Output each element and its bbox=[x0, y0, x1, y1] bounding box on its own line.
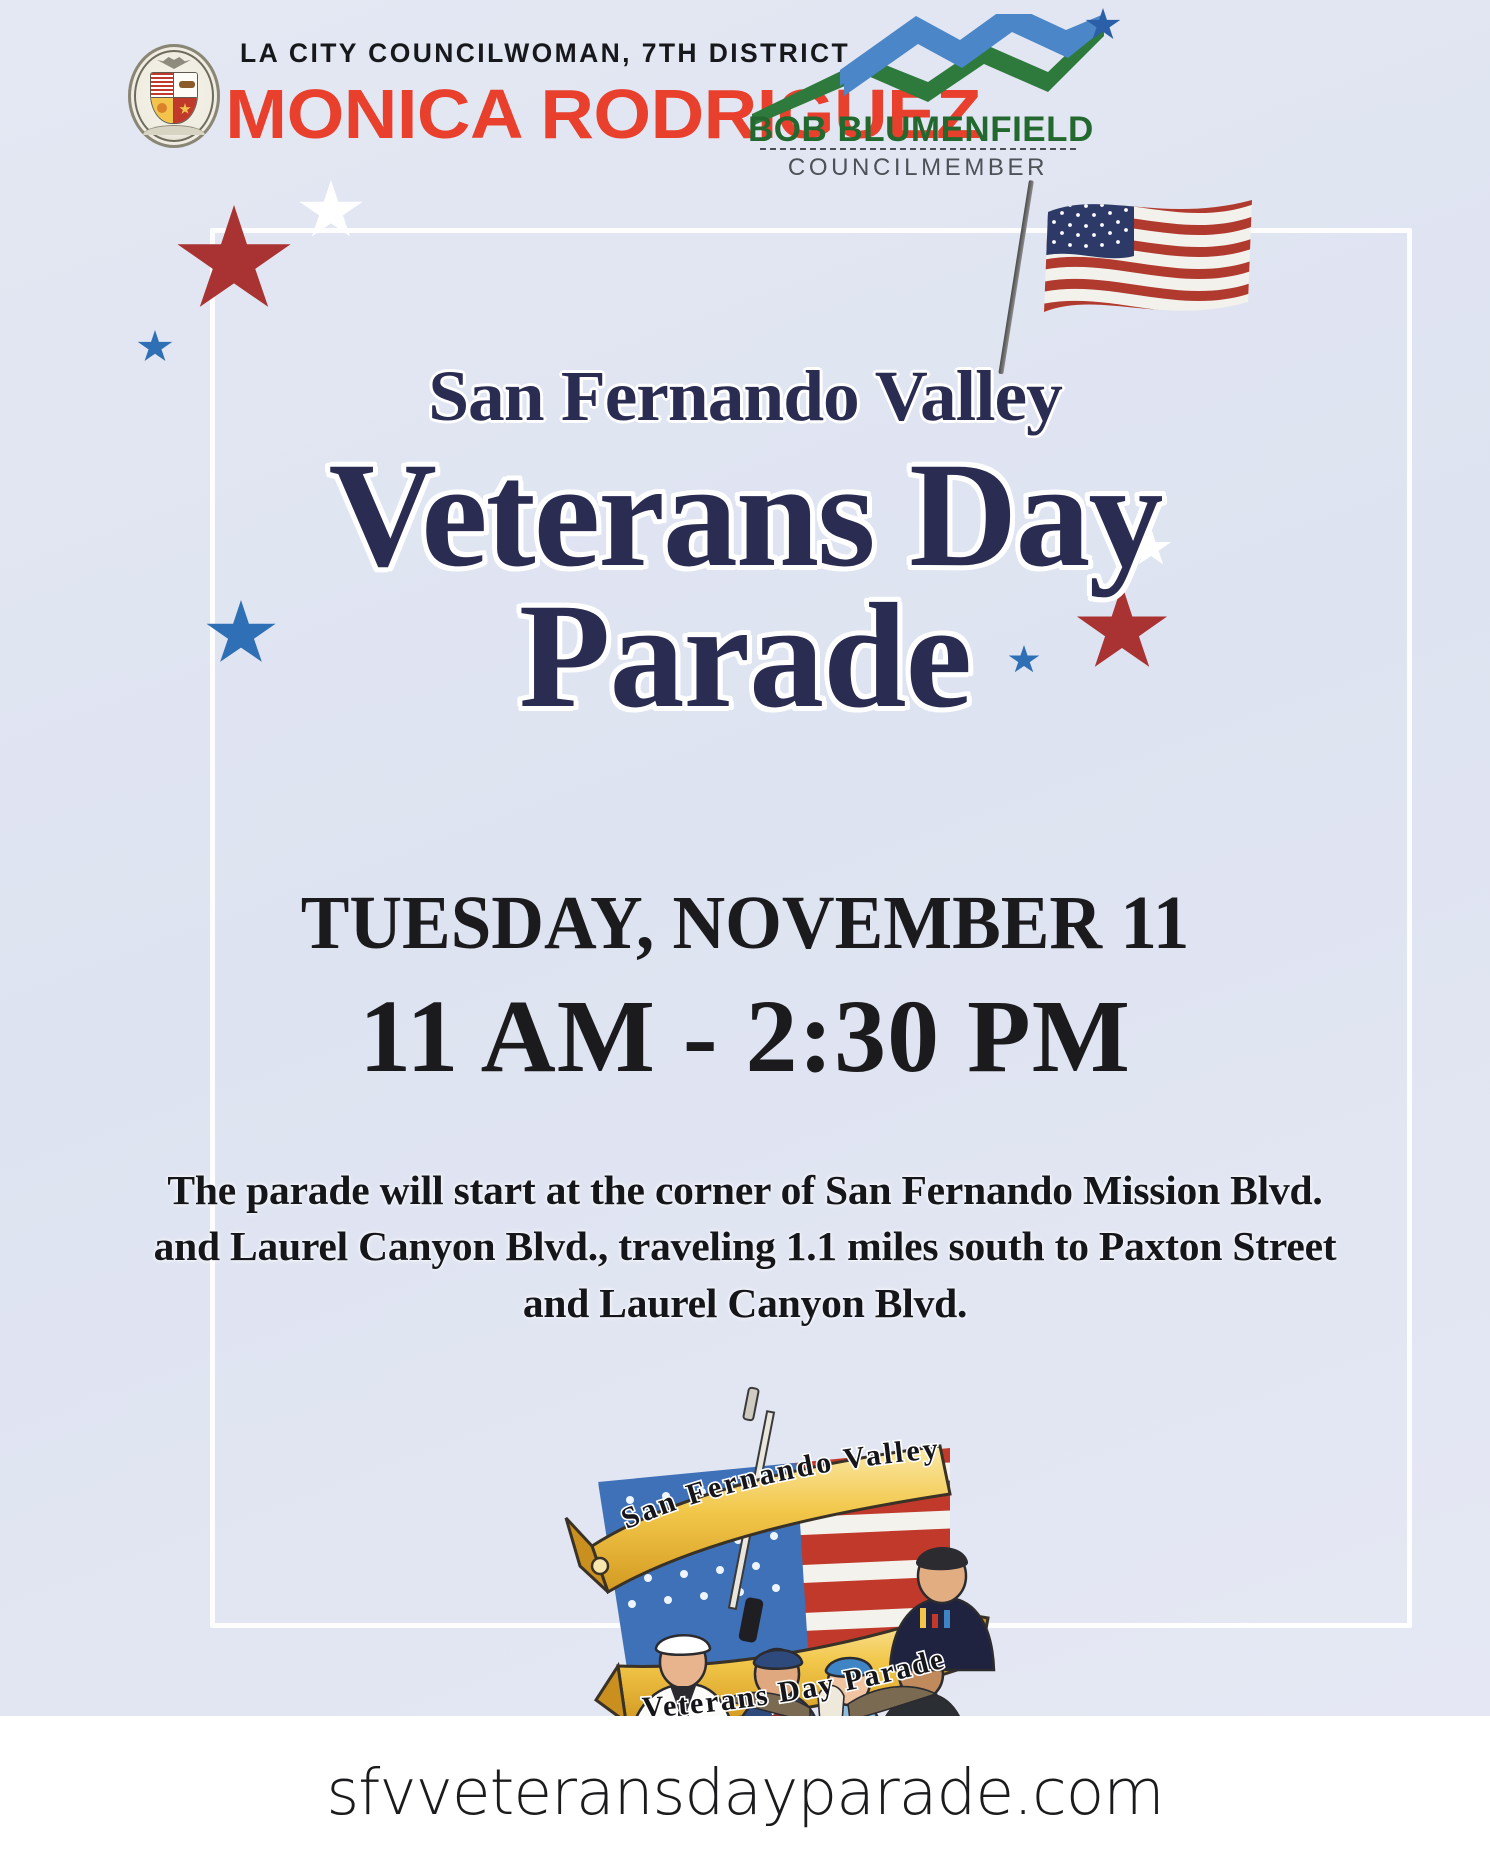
title-line-region: San Fernando Valley bbox=[0, 360, 1490, 432]
sfv-veterans-day-parade-emblem-icon: San Fernando Valley Veterans Day Parade bbox=[480, 1370, 1020, 1760]
poster-canvas: LA CITY COUNCILWOMAN, 7TH DISTRICT MONIC… bbox=[0, 0, 1490, 1868]
us-flag-icon bbox=[1020, 178, 1260, 378]
blumenfield-divider bbox=[760, 148, 1076, 150]
la-city-seal-icon bbox=[128, 44, 220, 148]
event-date: TUESDAY, NOVEMBER 11 bbox=[30, 885, 1460, 961]
flag-cloth bbox=[1042, 194, 1254, 326]
title-line-parade: Parade bbox=[0, 581, 1490, 731]
star-blue-small-icon bbox=[137, 330, 173, 364]
star-red-large-icon bbox=[175, 205, 293, 317]
seal-eagle bbox=[157, 56, 191, 69]
website-url[interactable]: sfvveteransdayparade.com bbox=[326, 1756, 1163, 1829]
seal-quadrant-bear bbox=[174, 73, 197, 98]
page-title: San Fernando Valley Veterans Day Parade bbox=[0, 360, 1490, 731]
councilwoman-name: MONICA RODRIGUEZ bbox=[225, 77, 744, 151]
event-time: 11 AM - 2:30 PM bbox=[0, 985, 1490, 1089]
seal-band bbox=[143, 125, 205, 135]
council-district-label: LA CITY COUNCILWOMAN, 7TH DISTRICT bbox=[240, 40, 730, 67]
poster-header: LA CITY COUNCILWOMAN, 7TH DISTRICT MONIC… bbox=[0, 0, 1490, 212]
title-line-main: Veterans Day bbox=[0, 442, 1490, 589]
seal-shield bbox=[150, 72, 198, 124]
blumenfield-name: BOB BLUMENFIELD bbox=[748, 110, 1088, 150]
blumenfield-logo: BOB BLUMENFIELD COUNCILMEMBER bbox=[748, 14, 1108, 182]
councilwoman-identity: LA CITY COUNCILWOMAN, 7TH DISTRICT MONIC… bbox=[240, 40, 730, 151]
seal-quadrant-stripes bbox=[151, 73, 174, 98]
seal-quadrant-lion bbox=[174, 98, 197, 123]
footer-bar: sfvveteransdayparade.com bbox=[0, 1716, 1490, 1868]
event-description: The parade will start at the corner of S… bbox=[150, 1162, 1340, 1331]
seal-quadrant-castle bbox=[151, 98, 174, 123]
